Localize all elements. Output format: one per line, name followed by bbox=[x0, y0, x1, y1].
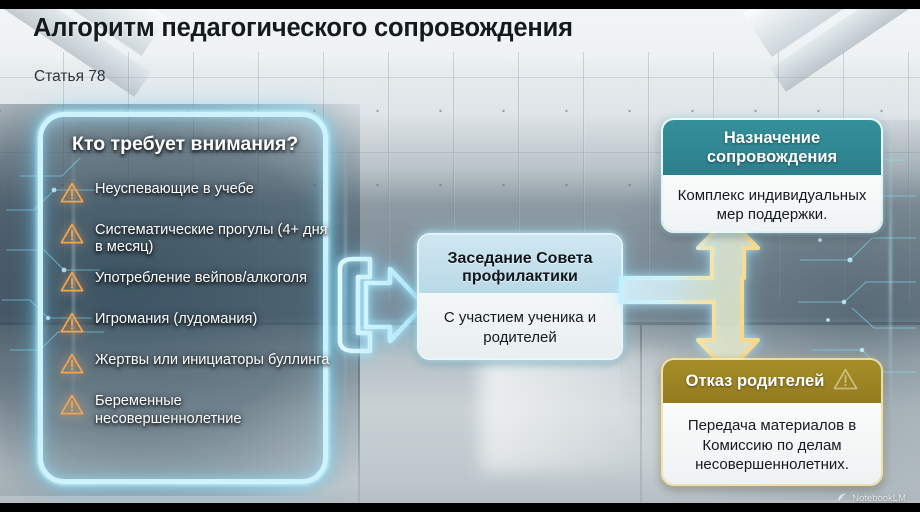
center-card-header: Заседание Совета профилактики bbox=[419, 235, 621, 293]
risk-criteria-list: Неуспевающие в учебе Систематические про… bbox=[60, 180, 330, 441]
list-item: Употребление вейпов/алкоголя bbox=[60, 269, 330, 297]
page-title: Алгоритм педагогического сопровождения bbox=[33, 14, 573, 43]
list-item: Систематические прогулы (4+ дня в месяц) bbox=[60, 221, 330, 256]
warning-triangle-icon bbox=[833, 368, 858, 395]
wall-light-strip bbox=[889, 110, 892, 430]
list-item: Игромания (лудомания) bbox=[60, 310, 330, 338]
wall-light-strip bbox=[344, 130, 347, 420]
center-card-body: С участием ученика и родителей bbox=[419, 293, 621, 360]
watermark-label: NotebookLM bbox=[852, 493, 906, 504]
list-item-label: Неуспевающие в учебе bbox=[95, 180, 254, 198]
warning-triangle-icon bbox=[60, 271, 84, 297]
center-step-card: Заседание Совета профилактики С участием… bbox=[417, 233, 623, 360]
list-item-label: Систематические прогулы (4+ дня в месяц) bbox=[95, 221, 330, 256]
letterbox-top bbox=[0, 0, 920, 9]
warning-triangle-icon bbox=[60, 353, 84, 379]
list-item-label: Жертвы или инициаторы буллинга bbox=[95, 351, 329, 369]
slide-canvas: Алгоритм педагогического сопровождения С… bbox=[0, 0, 920, 512]
list-item-label: Употребление вейпов/алкоголя bbox=[95, 269, 307, 287]
warning-triangle-icon bbox=[60, 394, 84, 420]
warning-triangle-icon bbox=[60, 223, 84, 249]
list-item-label: Беременные несовершеннолетние bbox=[95, 392, 330, 427]
top-card-header: Назначение сопровождения bbox=[663, 120, 881, 175]
letterbox-bottom bbox=[0, 503, 920, 512]
page-subtitle: Статья 78 bbox=[34, 68, 106, 86]
list-item: Беременные несовершеннолетние bbox=[60, 392, 330, 427]
warning-triangle-icon bbox=[60, 312, 84, 338]
top-card-body: Комплекс индивидуальных мер поддержки. bbox=[663, 175, 881, 233]
support-assignment-card: Назначение сопровождения Комплекс индиви… bbox=[661, 118, 883, 233]
list-item-label: Игромания (лудомания) bbox=[95, 310, 257, 328]
warning-triangle-icon bbox=[60, 182, 84, 208]
bottom-card-header: Отказ родителей bbox=[686, 372, 825, 391]
parental-refusal-card: Отказ родителей Передача материалов в Ко… bbox=[661, 358, 883, 486]
risk-panel-heading: Кто требует внимания? bbox=[72, 133, 312, 156]
list-item: Жертвы или инициаторы буллинга bbox=[60, 351, 330, 379]
bottom-card-body: Передача материалов в Комиссию по делам … bbox=[663, 403, 881, 486]
list-item: Неуспевающие в учебе bbox=[60, 180, 330, 208]
bottom-card-header-row: Отказ родителей bbox=[663, 360, 881, 403]
